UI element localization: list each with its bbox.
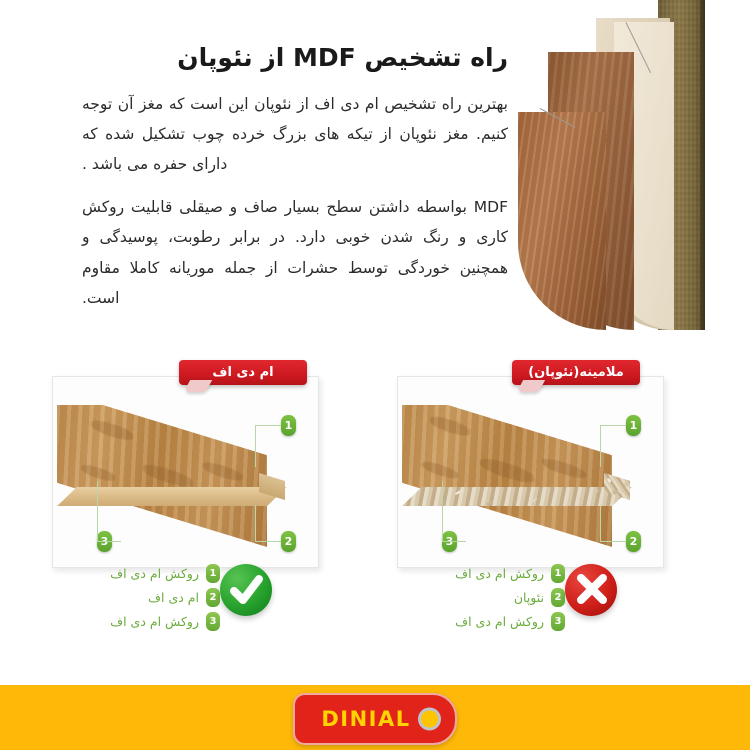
board-card-mdf: 1 2 3 [52,376,319,568]
list-item: 2 ام دی اف [52,585,220,609]
mdf-slab-edge [700,0,705,330]
legend-badge: 1 [206,564,220,583]
callout-2-mdf: 2 [281,531,296,552]
callout-1-line-v [600,425,601,467]
verdict-row-melamine: 1 روکش ام دی اف 2 نئوپان 3 روکش ام دی اف [397,558,662,646]
callout-badge: 2 [626,531,641,552]
comparison-panel-melamine: ملامینه(نئوپان) 1 [397,360,662,650]
board-illustration-mdf: 1 2 3 [53,405,318,565]
infographic-page: راه تشخیص MDF از نئوپان بهترین راه تشخیص… [0,0,750,750]
list-item: 1 روکش ام دی اف [52,561,220,585]
list-item: 2 نئوپان [397,585,565,609]
callout-2-line [600,541,626,542]
callout-1-line [255,425,281,426]
board-core-particle [402,487,632,506]
legend-badge: 2 [206,588,220,607]
wood-grain [480,455,534,487]
board-top-face [57,405,267,547]
x-mark-icon [565,564,617,616]
legend-label: روکش ام دی اف [110,614,199,629]
board-top-face [402,405,612,547]
legend-badge: 3 [206,612,220,631]
panel-layer-wood-lower [518,112,606,330]
board-card-melamine: 1 2 3 [397,376,664,568]
callout-2-line-v [255,505,256,541]
legend-badge: 3 [551,612,565,631]
wood-grain [422,459,458,481]
board-illustration-melamine: 1 2 3 [398,405,663,565]
callout-1-melamine: 1 [626,415,641,436]
callout-3-line [442,541,466,542]
page-title: راه تشخیص MDF از نئوپان [82,42,508,75]
callout-badge: 1 [281,415,296,436]
legend-badge: 1 [551,564,565,583]
callout-2-melamine: 2 [626,531,641,552]
check-mark-icon [220,564,272,616]
wood-grain [430,413,470,438]
legend-mdf: 1 روکش ام دی اف 2 ام دی اف 3 روکش ام دی … [52,558,220,633]
legend-label: نئوپان [514,590,544,605]
legend-label: روکش ام دی اف [110,566,199,581]
header-text-block: راه تشخیص MDF از نئوپان بهترین راه تشخیص… [82,42,508,326]
wood-grain [203,460,243,484]
callout-1-mdf: 1 [281,415,296,436]
list-item: 3 روکش ام دی اف [397,609,565,633]
callout-badge: 1 [626,415,641,436]
callout-badge: 2 [281,531,296,552]
legend-melamine: 1 روکش ام دی اف 2 نئوپان 3 روکش ام دی اف [397,558,565,633]
wood-grain [91,417,133,443]
brand-bar: DINIAL [0,685,750,750]
logo-text: DINIAL [321,707,410,731]
comparison-section: ملامینه(نئوپان) 1 [0,360,750,650]
paragraph-1: بهترین راه تشخیص ام دی اف از نئوپان این … [82,89,508,180]
ribbon-text: ام دی اف [212,365,273,380]
ribbon-label-mdf: ام دی اف [179,360,307,385]
legend-label: روکش ام دی اف [455,614,544,629]
wood-grain [81,462,115,483]
callout-2-line [255,541,281,542]
callout-3-line [97,541,121,542]
dinial-logo[interactable]: DINIAL [293,693,457,745]
board-core-mdf [57,487,287,506]
callout-3-line-v [442,481,443,541]
legend-label: روکش ام دی اف [455,566,544,581]
paragraph-2: MDF بواسطه داشتن سطح بسیار صاف و صیقلی ق… [82,192,508,313]
callout-1-line-v [255,425,256,467]
ribbon-text: ملامینه(نئوپان) [528,365,624,380]
wood-grain [542,456,586,481]
callout-2-line-v [600,505,601,541]
list-item: 1 روکش ام دی اف [397,561,565,585]
tag-hole-icon [418,708,441,731]
legend-badge: 2 [551,588,565,607]
legend-label: ام دی اف [148,590,199,605]
ribbon-label-melamine: ملامینه(نئوپان) [512,360,640,385]
list-item: 3 روکش ام دی اف [52,609,220,633]
mdf-panel-photo [518,0,750,330]
comparison-panel-mdf: ام دی اف 1 [52,360,317,650]
verdict-row-mdf: 1 روکش ام دی اف 2 ام دی اف 3 روکش ام دی … [52,558,317,646]
callout-1-line [600,425,626,426]
callout-3-line-v [97,481,98,541]
